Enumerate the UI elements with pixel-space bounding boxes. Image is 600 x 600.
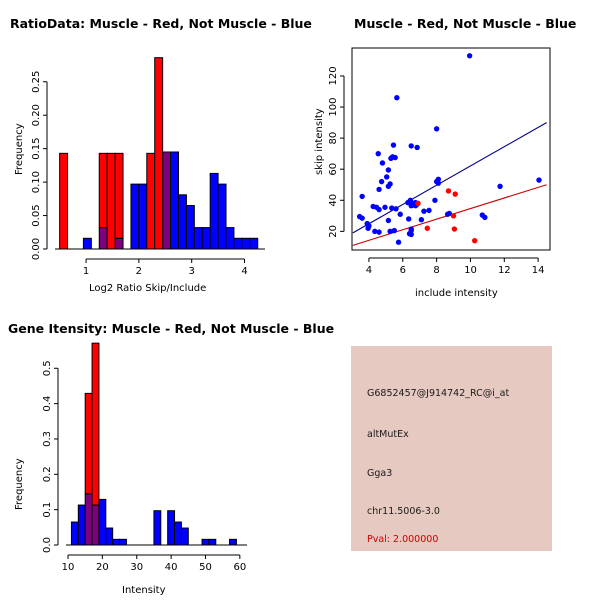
scatter-point xyxy=(432,198,437,203)
probe-info-panel: G6852457@J914742_RC@i_at altMutEx Gga3 c… xyxy=(351,346,552,551)
scatter-point xyxy=(472,238,477,243)
gene-y-ticklabel: 0.1 xyxy=(42,502,53,518)
histogram-bar xyxy=(147,153,155,249)
locus-label: chr11.5006-3.0 xyxy=(367,506,440,517)
scatter-x-ticklabel: 4 xyxy=(366,265,372,276)
scatter-point xyxy=(406,216,411,221)
scatter-x-ticklabel: 14 xyxy=(532,265,545,276)
scatter-point xyxy=(376,229,381,234)
gene-x-ticklabel: 30 xyxy=(130,562,143,573)
histogram-bar xyxy=(155,58,163,249)
scatter-point xyxy=(421,208,426,213)
scatter-point xyxy=(376,207,381,212)
scatter-point xyxy=(446,188,451,193)
histogram-bar xyxy=(242,238,250,249)
scatter-canvas: 46810121420406080100120 xyxy=(300,0,600,300)
probe-id-label: G6852457@J914742_RC@i_at xyxy=(367,388,509,399)
histogram-bar xyxy=(71,522,78,545)
scatter-point xyxy=(451,213,456,218)
ratio-histogram-panel: RatioData: Muscle - Red, Not Muscle - Bl… xyxy=(0,0,300,300)
scatter-point xyxy=(536,177,541,182)
histogram-bar xyxy=(154,511,161,545)
ratio-y-ticklabel: 0.15 xyxy=(31,138,42,160)
intensity-scatter-panel: Muscle - Red, Not Muscle - Blue skip int… xyxy=(300,0,600,300)
gene-x-ticklabel: 50 xyxy=(199,562,212,573)
scatter-point xyxy=(393,206,398,211)
histogram-bar xyxy=(78,505,85,545)
histogram-bar xyxy=(230,539,237,545)
scatter-point xyxy=(445,212,450,217)
histogram-bar xyxy=(107,153,115,249)
scatter-point xyxy=(415,201,420,206)
ratio-x-ticklabel: 1 xyxy=(83,266,89,277)
scatter-point xyxy=(497,184,502,189)
scatter-y-ticklabel: 40 xyxy=(328,194,339,207)
histogram-bar xyxy=(226,228,234,249)
scatter-point xyxy=(409,226,414,231)
histogram-bar xyxy=(250,238,258,249)
gene-y-ticklabel: 0.3 xyxy=(42,431,53,447)
ratio-x-ticklabel: 3 xyxy=(189,266,195,277)
histogram-bar xyxy=(85,393,92,493)
histogram-bar xyxy=(181,528,188,545)
histogram-bar xyxy=(163,152,171,249)
ratio-y-ticklabel: 0.20 xyxy=(31,104,42,126)
regression-line xyxy=(353,123,547,233)
gene-y-ticklabel: 0.2 xyxy=(42,466,53,482)
event-type-label: altMutEx xyxy=(367,429,409,440)
histogram-bar xyxy=(175,522,182,545)
scatter-point xyxy=(391,142,396,147)
scatter-y-ticklabel: 120 xyxy=(328,66,339,85)
gene-y-ticklabel: 0.4 xyxy=(42,396,53,412)
histogram-bar xyxy=(92,343,99,505)
histogram-bar xyxy=(234,238,242,249)
scatter-point xyxy=(398,212,403,217)
histogram-bar xyxy=(202,539,209,545)
histogram-bar xyxy=(99,153,107,227)
scatter-point xyxy=(396,240,401,245)
scatter-x-ticklabel: 12 xyxy=(498,265,511,276)
scatter-plot-box xyxy=(352,48,550,250)
scatter-point xyxy=(382,205,387,210)
scatter-y-ticklabel: 60 xyxy=(328,163,339,176)
histogram-bar xyxy=(131,184,139,249)
scatter-point xyxy=(414,145,419,150)
histogram-bar xyxy=(99,499,106,545)
scatter-x-ticklabel: 6 xyxy=(400,265,406,276)
scatter-point xyxy=(376,151,381,156)
histogram-bar xyxy=(209,539,216,545)
scatter-point xyxy=(409,143,414,148)
scatter-point xyxy=(426,208,431,213)
gene-x-ticklabel: 20 xyxy=(96,562,109,573)
gene-name-label: Gga3 xyxy=(367,468,392,479)
scatter-point xyxy=(388,156,393,161)
gene-y-ticklabel: 0.5 xyxy=(42,360,53,376)
gene-x-ticklabel: 40 xyxy=(165,562,178,573)
histogram-bar xyxy=(92,505,99,545)
scatter-point xyxy=(386,184,391,189)
histogram-bar xyxy=(99,228,107,249)
ratio-y-ticklabel: 0.25 xyxy=(31,71,42,93)
ratio-y-ticklabel: 0.05 xyxy=(31,204,42,226)
scatter-y-ticklabel: 80 xyxy=(328,132,339,145)
gene-intensity-histogram-panel: Gene Itensity: Muscle - Red, Not Muscle … xyxy=(0,300,300,600)
histogram-bar xyxy=(115,238,123,249)
scatter-point xyxy=(379,179,384,184)
scatter-point xyxy=(480,212,485,217)
scatter-point xyxy=(425,226,430,231)
pval-label: Pval: 2.000000 xyxy=(367,534,438,545)
histogram-bar xyxy=(202,228,210,249)
scatter-point xyxy=(419,217,424,222)
scatter-point xyxy=(392,228,397,233)
histogram-bar xyxy=(106,528,113,545)
gene-y-ticklabel: 0.0 xyxy=(42,537,53,553)
scatter-point xyxy=(394,95,399,100)
histogram-bar xyxy=(168,511,175,545)
scatter-point xyxy=(386,167,391,172)
scatter-point xyxy=(436,180,441,185)
gene-x-ticklabel: 10 xyxy=(62,562,75,573)
histogram-bar xyxy=(60,153,68,249)
histogram-bar xyxy=(194,228,202,249)
ratio-x-ticklabel: 4 xyxy=(241,266,247,277)
scatter-point xyxy=(453,191,458,196)
scatter-point xyxy=(452,226,457,231)
scatter-y-ticklabel: 20 xyxy=(328,225,339,238)
histogram-bar xyxy=(171,152,179,249)
histogram-bar xyxy=(83,238,91,249)
histogram-bar xyxy=(186,206,194,249)
scatter-point xyxy=(386,218,391,223)
histogram-bar xyxy=(85,494,92,545)
histogram-bar xyxy=(139,184,147,249)
scatter-point xyxy=(434,126,439,131)
histogram-bar xyxy=(210,173,218,249)
scatter-point xyxy=(365,226,370,231)
gene-x-ticklabel: 60 xyxy=(233,562,246,573)
scatter-x-ticklabel: 10 xyxy=(464,265,477,276)
scatter-point xyxy=(380,160,385,165)
gene-histogram-canvas: 1020304050600.00.10.20.30.40.5 xyxy=(0,300,300,600)
histogram-bar xyxy=(218,184,226,249)
scatter-point xyxy=(359,215,364,220)
histogram-bar xyxy=(113,539,120,545)
histogram-bar xyxy=(115,153,123,238)
ratio-y-ticklabel: 0.10 xyxy=(31,171,42,193)
ratio-y-ticklabel: 0.00 xyxy=(31,238,42,260)
scatter-point xyxy=(384,174,389,179)
scatter-y-ticklabel: 100 xyxy=(328,97,339,116)
histogram-bar xyxy=(178,195,186,249)
ratio-histogram-canvas: 12340.000.050.100.150.200.25 xyxy=(0,0,300,300)
histogram-bar xyxy=(120,539,127,545)
scatter-point xyxy=(467,53,472,58)
ratio-x-ticklabel: 2 xyxy=(136,266,142,277)
scatter-x-ticklabel: 8 xyxy=(433,265,439,276)
scatter-point xyxy=(359,194,364,199)
scatter-point xyxy=(376,187,381,192)
